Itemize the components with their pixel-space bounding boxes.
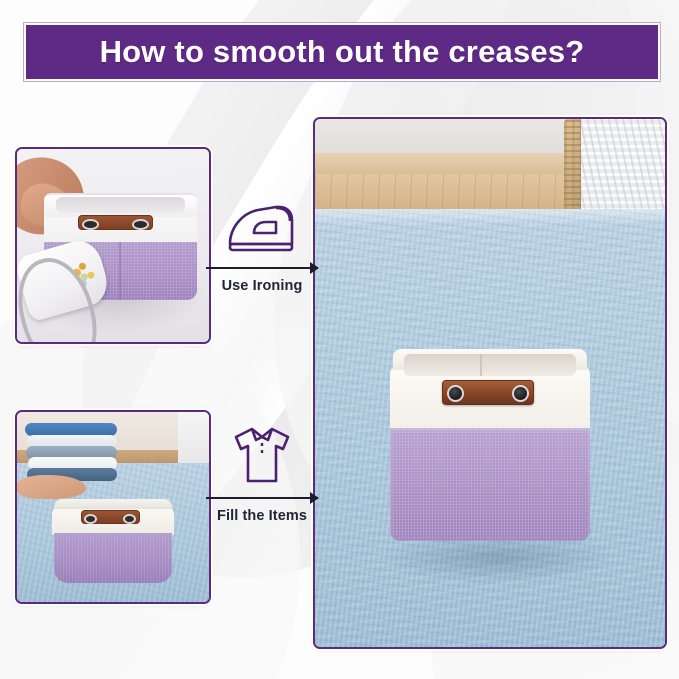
- rug-edge-highlight: [315, 209, 665, 225]
- basket-rim: [44, 193, 198, 216]
- ironing-photo: [17, 149, 209, 342]
- grommet-left: [82, 219, 99, 230]
- basket-interior: [404, 354, 576, 375]
- main-product-photo: [313, 117, 667, 649]
- step-label-use-ironing: Use Ironing: [206, 278, 318, 294]
- storage-basket: [390, 349, 590, 542]
- step-fill-the-items: Fill the Items: [206, 418, 318, 524]
- grommet-left: [84, 514, 97, 524]
- basket-inner-divider: [480, 354, 482, 375]
- leather-handle: [78, 215, 154, 231]
- basket-interior: [56, 197, 185, 212]
- grommet-left: [447, 385, 464, 402]
- tshirt-icon: [206, 418, 318, 488]
- step-label-fill-the-items: Fill the Items: [206, 508, 318, 524]
- page-title: How to smooth out the creases?: [100, 34, 585, 70]
- step-photo-fill-the-items: [15, 410, 211, 604]
- grommet-right: [132, 219, 149, 230]
- main-scene: [315, 119, 665, 647]
- step-photo-use-ironing: [15, 147, 211, 344]
- basket-seam: [119, 242, 121, 299]
- leather-handle: [442, 380, 534, 405]
- fill-items-photo: [17, 412, 209, 602]
- basket-body: [54, 533, 172, 583]
- basket-rim: [54, 499, 172, 509]
- grommet-right: [512, 385, 529, 402]
- title-banner: How to smooth out the creases?: [24, 23, 660, 81]
- basket-body: [390, 428, 590, 542]
- arrow-right-icon: [206, 492, 318, 504]
- folded-towel-stack: [25, 423, 117, 482]
- arrow-right-icon: [206, 262, 318, 274]
- hand: [17, 475, 86, 500]
- step-use-ironing: Use Ironing: [206, 188, 318, 294]
- iron-icon: [206, 188, 318, 258]
- grommet-right: [123, 514, 136, 524]
- infographic-canvas: How to smooth out the creases?: [0, 0, 679, 679]
- leather-handle: [81, 510, 140, 524]
- collapsed-storage-basket: [52, 499, 175, 583]
